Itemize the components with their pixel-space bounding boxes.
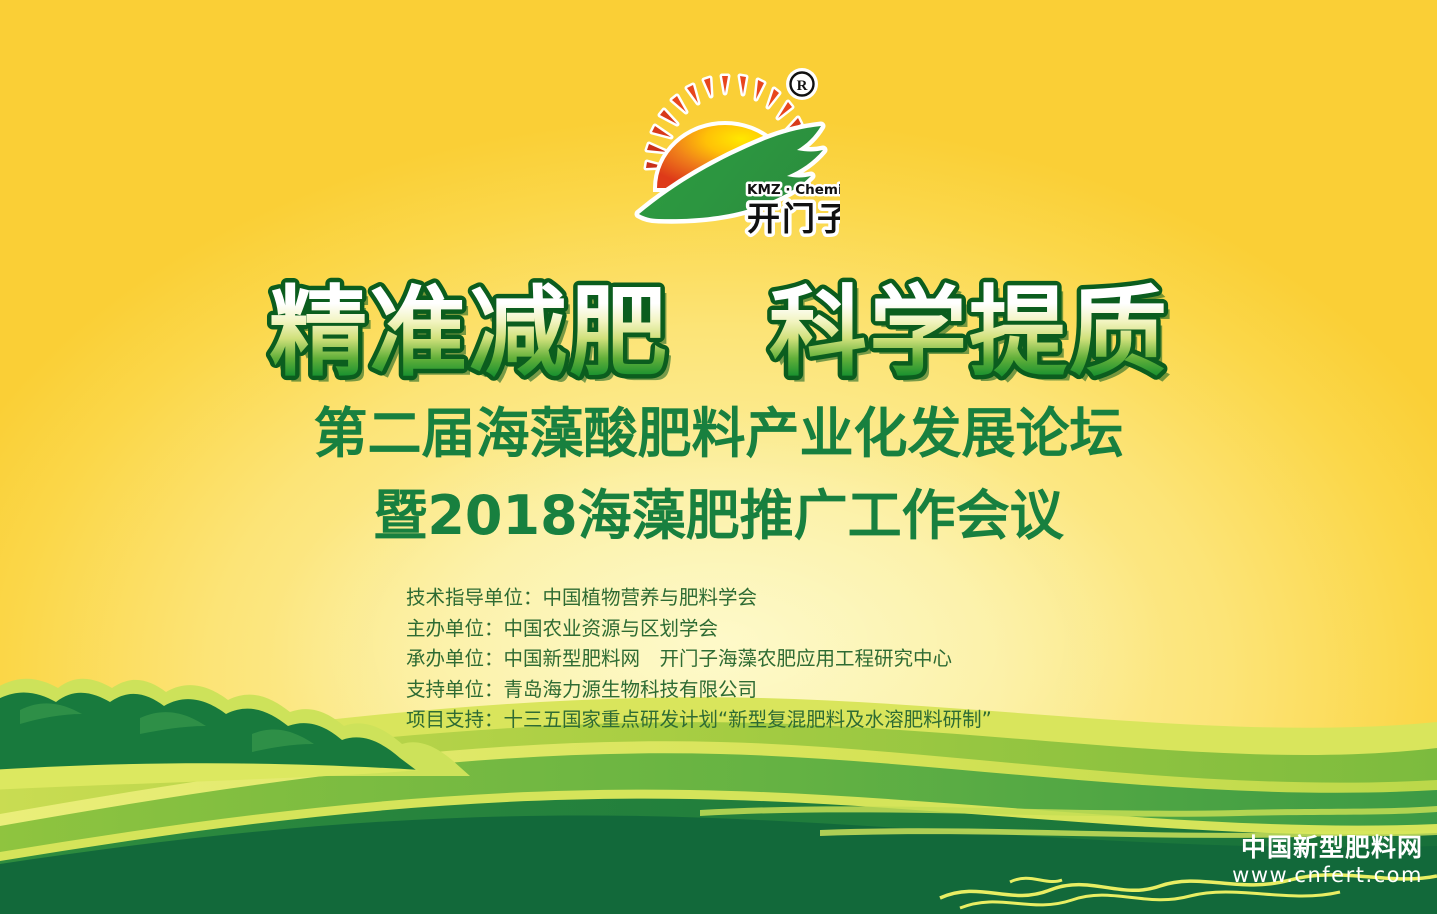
conference-poster: R KMZ · Chemical KMZ · Chemical 开门子 开门子 [0, 0, 1437, 914]
brand-latin-fill: KMZ · Chemical [747, 182, 840, 198]
site-watermark: 中国新型肥料网 www.cnfert.com [1232, 835, 1423, 886]
kaimenzi-logo: R KMZ · Chemical KMZ · Chemical 开门子 开门子 [625, 62, 840, 247]
detail-line-co-organizer: 承办单位：中国新型肥料网 开门子海藻农肥应用工程研究中心 [406, 644, 992, 675]
headline-fill: 精准减肥 科学提质 [268, 276, 1168, 390]
registered-trademark-icon: R [786, 68, 818, 100]
headline-slogan: 精准减肥 科学提质 精准减肥 科学提质 精准减肥 科学提质 [0, 266, 1437, 390]
subtitle-line-2: 暨2018海藻肥推广工作会议 [0, 486, 1437, 546]
subtitle-line-1: 第二届海藻酸肥料产业化发展论坛 [0, 404, 1437, 464]
detail-line-project-support: 项目支持：十三五国家重点研发计划“新型复混肥料及水溶肥料研制” [406, 705, 992, 736]
watermark-site-name: 中国新型肥料网 [1232, 835, 1423, 860]
watermark-site-url: www.cnfert.com [1232, 865, 1423, 886]
detail-line-supporter: 支持单位：青岛海力源生物科技有限公司 [406, 675, 992, 706]
logo-brand-text: KMZ · Chemical KMZ · Chemical 开门子 开门子 [747, 182, 840, 238]
svg-text:R: R [797, 78, 808, 94]
brand-cn-fill: 开门子 [747, 199, 840, 238]
organizer-details: 技术指导单位：中国植物营养与肥料学会 主办单位：中国农业资源与区划学会 承办单位… [406, 583, 992, 736]
detail-line-organizer: 主办单位：中国农业资源与区划学会 [406, 614, 992, 645]
detail-line-technical-guidance: 技术指导单位：中国植物营养与肥料学会 [406, 583, 992, 614]
